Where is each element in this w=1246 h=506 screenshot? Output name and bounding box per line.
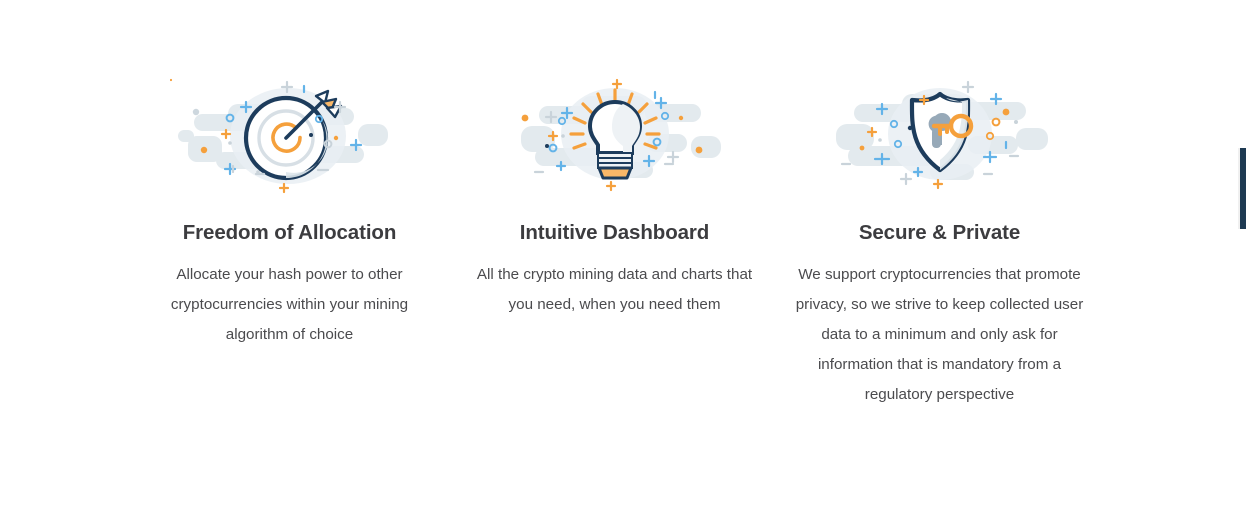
feature-title: Freedom of Allocation: [183, 222, 397, 244]
feature-title: Intuitive Dashboard: [520, 222, 709, 244]
feature-section-page: Freedom of Allocation Allocate your hash…: [0, 0, 1246, 506]
feature-card-secure-and-private: Secure & Private We support cryptocurren…: [777, 0, 1102, 410]
vertical-scrollbar-thumb[interactable]: [1240, 148, 1246, 229]
feature-columns: Freedom of Allocation Allocate your hash…: [0, 0, 1215, 506]
feature-card-freedom-of-allocation: Freedom of Allocation Allocate your hash…: [127, 0, 452, 350]
feature-description: Allocate your hash power to other crypto…: [147, 260, 432, 350]
feature-card-intuitive-dashboard: Intuitive Dashboard All the crypto minin…: [452, 0, 777, 320]
feature-description: All the crypto mining data and charts th…: [470, 260, 760, 320]
vertical-scrollbar-track[interactable]: [1238, 0, 1246, 506]
feature-title: Secure & Private: [859, 222, 1020, 244]
shield-key-icon: [820, 78, 1060, 198]
lightbulb-icon: [495, 78, 735, 198]
feature-description: We support cryptocurrencies that promote…: [794, 260, 1086, 410]
target-arrow-icon: [170, 78, 410, 198]
